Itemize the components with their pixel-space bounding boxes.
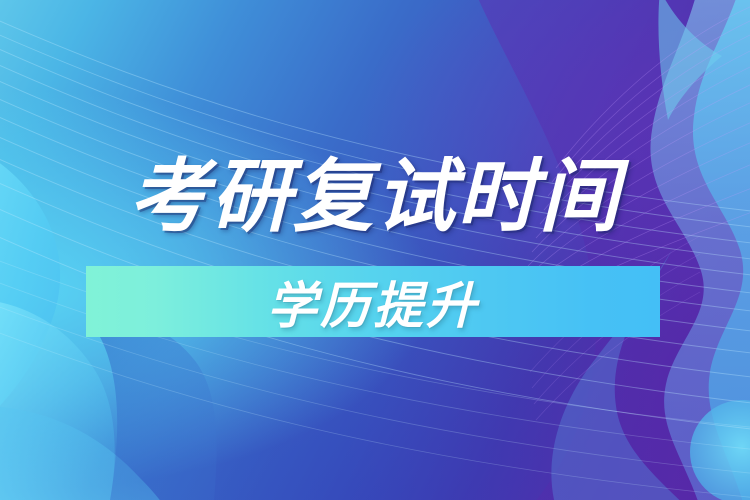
page-title: 考研复试时间 (0, 152, 750, 242)
promo-banner: 考研复试时间 学历提升 (0, 0, 750, 500)
banner-content: 考研复试时间 学历提升 (0, 0, 750, 500)
subtitle-text: 学历提升 (86, 266, 660, 337)
